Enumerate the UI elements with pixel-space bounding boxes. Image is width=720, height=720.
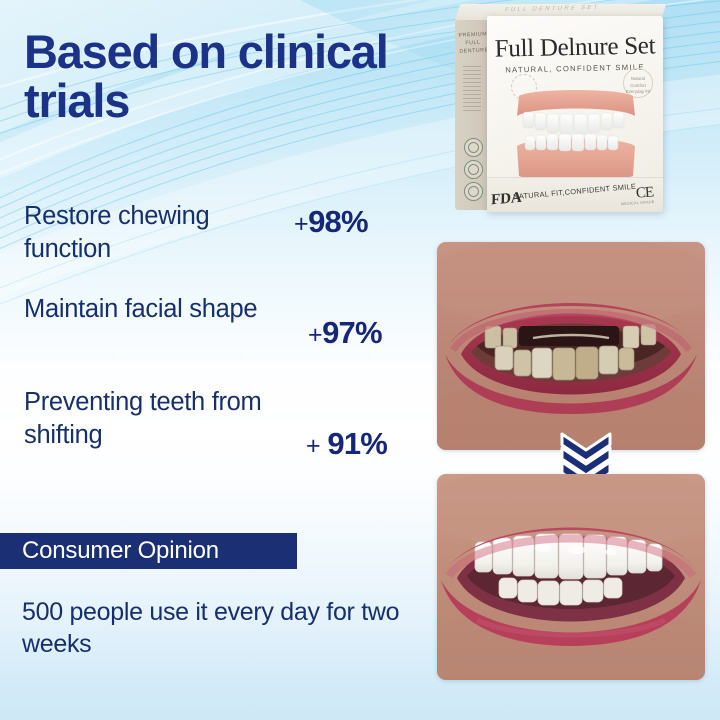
benefit-item: Preventing teeth from shifting + 91% [22,386,422,479]
product-box-side-face: PREMIUM FULL DENTURE [455,20,489,210]
product-title: Full Delnure Set [487,32,663,64]
benefit-percentage: +97% [308,315,382,351]
page-title: Based on clinical trials [24,28,444,126]
product-tagline: NATURAL FIT,CONFIDENT SMILE [513,182,637,202]
benefit-label: Restore chewing function [24,200,292,265]
benefit-item: Maintain facial shape +97% [22,293,422,386]
product-box: FULL DENTURE SET PREMIUM FULL DENTURE Fu… [447,4,675,216]
benefit-value: 97% [322,315,382,350]
product-box-bottom-strip: FDA NATURAL FIT,CONFIDENT SMILE CE MEDIC… [487,177,663,212]
benefit-percentage: +98% [294,204,368,240]
before-photo [437,242,705,450]
benefit-percentage: + 91% [306,426,387,462]
certification-seal-icon [464,138,483,157]
consumer-opinion-note: 500 people use it every day for two week… [22,597,422,661]
product-box-side-lines [463,66,481,128]
certification-seal-icon [464,160,483,179]
benefits-list: Restore chewing function +98% Maintain f… [22,200,422,479]
benefit-value: 91% [327,426,387,461]
plus-sign: + [294,210,308,238]
benefit-value: 98% [308,204,368,239]
consumer-opinion-banner: Consumer Opinion [0,533,297,569]
benefit-item: Restore chewing function +98% [22,200,422,293]
consumer-opinion-label: Consumer Opinion [0,537,219,565]
ce-note: MEDICAL GRADE [621,200,655,206]
plus-sign: + [308,321,322,349]
after-smile-image [437,474,705,680]
plus-sign: + [306,432,320,460]
after-photo [437,474,705,680]
benefit-label: Maintain facial shape [24,293,292,326]
denture-illustration [501,90,651,182]
benefit-label: Preventing teeth from shifting [24,386,292,451]
certification-seal-icon [464,182,483,201]
advertisement-canvas: Based on clinical trials Restore chewing… [0,0,720,720]
product-box-side-text: PREMIUM FULL DENTURE [458,31,487,56]
product-box-front-face: Full Delnure Set NATURAL, CONFIDENT SMIL… [487,16,663,212]
before-smile-image [437,242,705,450]
